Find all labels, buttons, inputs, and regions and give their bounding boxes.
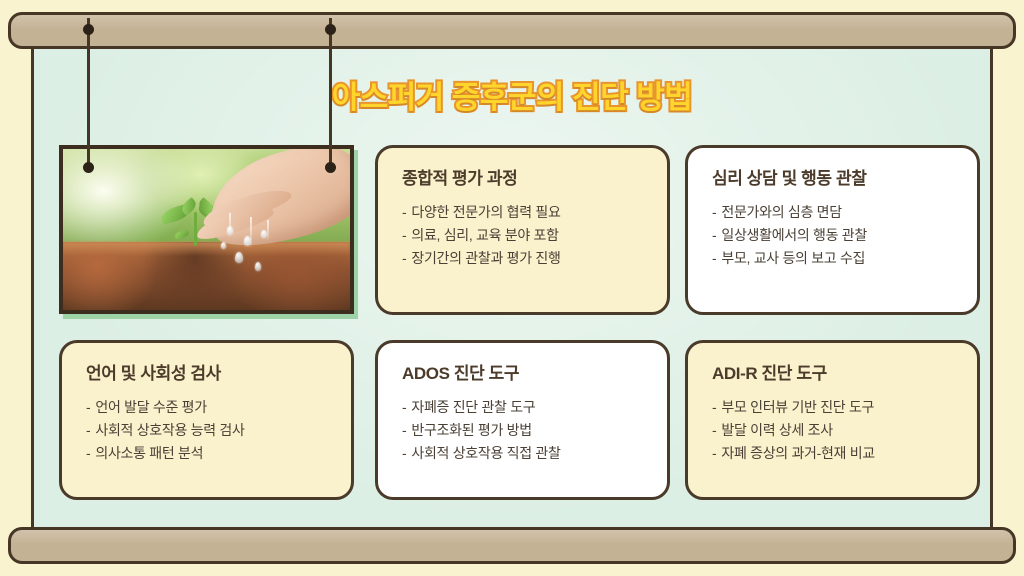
list-item: -일상생활에서의 행동 관찰	[712, 224, 953, 247]
card-adir-tool[interactable]: ADI-R 진단 도구 -부모 인터뷰 기반 진단 도구 -발달 이력 상세 조…	[685, 340, 980, 500]
card-comprehensive-assessment[interactable]: 종합적 평가 과정 -다양한 전문가의 협력 필요 -의료, 심리, 교육 분야…	[375, 145, 670, 315]
bullet-dash: -	[402, 204, 406, 220]
list-item-label: 발달 이력 상세 조사	[721, 422, 832, 438]
list-item: -부모 인터뷰 기반 진단 도구	[712, 396, 953, 419]
top-wood-bar	[8, 12, 1016, 49]
list-item-label: 반구조화된 평가 방법	[411, 422, 531, 438]
list-item: -반구조화된 평가 방법	[402, 419, 643, 442]
card-heading: ADOS 진단 도구	[402, 365, 643, 384]
card-heading: 언어 및 사회성 검사	[86, 365, 327, 384]
bullet-dash: -	[86, 399, 90, 415]
bullet-dash: -	[712, 399, 716, 415]
card-ados-tool[interactable]: ADOS 진단 도구 -자폐증 진단 관찰 도구 -반구조화된 평가 방법 -사…	[375, 340, 670, 500]
card-bullet-list: -자폐증 진단 관찰 도구 -반구조화된 평가 방법 -사회적 상호작용 직접 …	[402, 396, 643, 465]
photo-soil	[63, 242, 350, 310]
bar-sheen-bottom	[11, 530, 1013, 544]
card-heading: 심리 상담 및 행동 관찰	[712, 170, 953, 189]
photo-water-droplet	[227, 226, 233, 235]
bullet-dash: -	[712, 250, 716, 266]
card-bullet-list: -전문가와의 심층 면담 -일상생활에서의 행동 관찰 -부모, 교사 등의 보…	[712, 201, 953, 270]
bullet-dash: -	[402, 399, 406, 415]
list-item-label: 사회적 상호작용 직접 관찰	[411, 445, 560, 461]
photo-water-droplet	[261, 230, 267, 238]
list-item: -의사소통 패턴 분석	[86, 442, 327, 465]
bullet-dash: -	[712, 422, 716, 438]
card-language-social-test[interactable]: 언어 및 사회성 검사 -언어 발달 수준 평가 -사회적 상호작용 능력 검사…	[59, 340, 354, 500]
list-item-label: 부모, 교사 등의 보고 수집	[721, 250, 865, 266]
list-item-label: 전문가와의 심층 면담	[721, 204, 841, 220]
pin-dot-top-left	[83, 24, 94, 35]
list-item-label: 사회적 상호작용 능력 검사	[95, 422, 244, 438]
card-counseling-observation[interactable]: 심리 상담 및 행동 관찰 -전문가와의 심층 면담 -일상생활에서의 행동 관…	[685, 145, 980, 315]
card-bullet-list: -부모 인터뷰 기반 진단 도구 -발달 이력 상세 조사 -자폐 증상의 과거…	[712, 396, 953, 465]
photo-soil-highlight	[63, 242, 350, 256]
list-item-label: 장기간의 관찰과 평가 진행	[411, 250, 560, 266]
list-item-label: 다양한 전문가의 협력 필요	[411, 204, 560, 220]
photo-sprout-stem	[194, 212, 197, 246]
photo-water-droplet	[244, 236, 251, 246]
list-item: -전문가와의 심층 면담	[712, 201, 953, 224]
bullet-dash: -	[402, 445, 406, 461]
list-item: -발달 이력 상세 조사	[712, 419, 953, 442]
list-item: -다양한 전문가의 협력 필요	[402, 201, 643, 224]
slide-canvas: 아스퍼거 증후군의 진단 방법 종합적 평가 과정 -다양한 전문가의 협력 필…	[0, 0, 1024, 576]
list-item: -장기간의 관찰과 평가 진행	[402, 247, 643, 270]
list-item: -언어 발달 수준 평가	[86, 396, 327, 419]
list-item: -부모, 교사 등의 보고 수집	[712, 247, 953, 270]
bullet-dash: -	[86, 422, 90, 438]
bullet-dash: -	[402, 422, 406, 438]
list-item: -의료, 심리, 교육 분야 포함	[402, 224, 643, 247]
list-item-label: 언어 발달 수준 평가	[95, 399, 206, 415]
card-bullet-list: -언어 발달 수준 평가 -사회적 상호작용 능력 검사 -의사소통 패턴 분석	[86, 396, 327, 465]
list-item-label: 자폐증 진단 관찰 도구	[411, 399, 535, 415]
list-item: -사회적 상호작용 직접 관찰	[402, 442, 643, 465]
bullet-dash: -	[712, 445, 716, 461]
list-item-label: 의료, 심리, 교육 분야 포함	[411, 227, 558, 243]
pin-dot-top-right	[325, 24, 336, 35]
card-heading: 종합적 평가 과정	[402, 170, 643, 189]
list-item-label: 일상생활에서의 행동 관찰	[721, 227, 867, 243]
photo-water-streak	[267, 220, 269, 242]
list-item: -자폐증 진단 관찰 도구	[402, 396, 643, 419]
list-item-label: 부모 인터뷰 기반 진단 도구	[721, 399, 874, 415]
bar-sheen-top	[11, 15, 1013, 29]
bullet-dash: -	[402, 227, 406, 243]
pin-dot-photo-right	[325, 162, 336, 173]
card-bullet-list: -다양한 전문가의 협력 필요 -의료, 심리, 교육 분야 포함 -장기간의 …	[402, 201, 643, 270]
bullet-dash: -	[86, 445, 90, 461]
list-item-label: 의사소통 패턴 분석	[95, 445, 203, 461]
list-item-label: 자폐 증상의 과거-현재 비교	[721, 445, 875, 461]
card-heading: ADI-R 진단 도구	[712, 365, 953, 384]
hanging-string-right	[329, 18, 332, 168]
photo-water-droplet	[221, 242, 226, 249]
page-title: 아스퍼거 증후군의 진단 방법	[0, 72, 1024, 117]
pin-dot-photo-left	[83, 162, 94, 173]
list-item: -사회적 상호작용 능력 검사	[86, 419, 327, 442]
seedling-watering-photo	[59, 145, 354, 314]
photo-water-droplet	[235, 252, 243, 263]
hanging-string-left	[87, 18, 90, 168]
bullet-dash: -	[712, 204, 716, 220]
bullet-dash: -	[402, 250, 406, 266]
bottom-wood-bar	[8, 527, 1016, 564]
list-item: -자폐 증상의 과거-현재 비교	[712, 442, 953, 465]
bullet-dash: -	[712, 227, 716, 243]
